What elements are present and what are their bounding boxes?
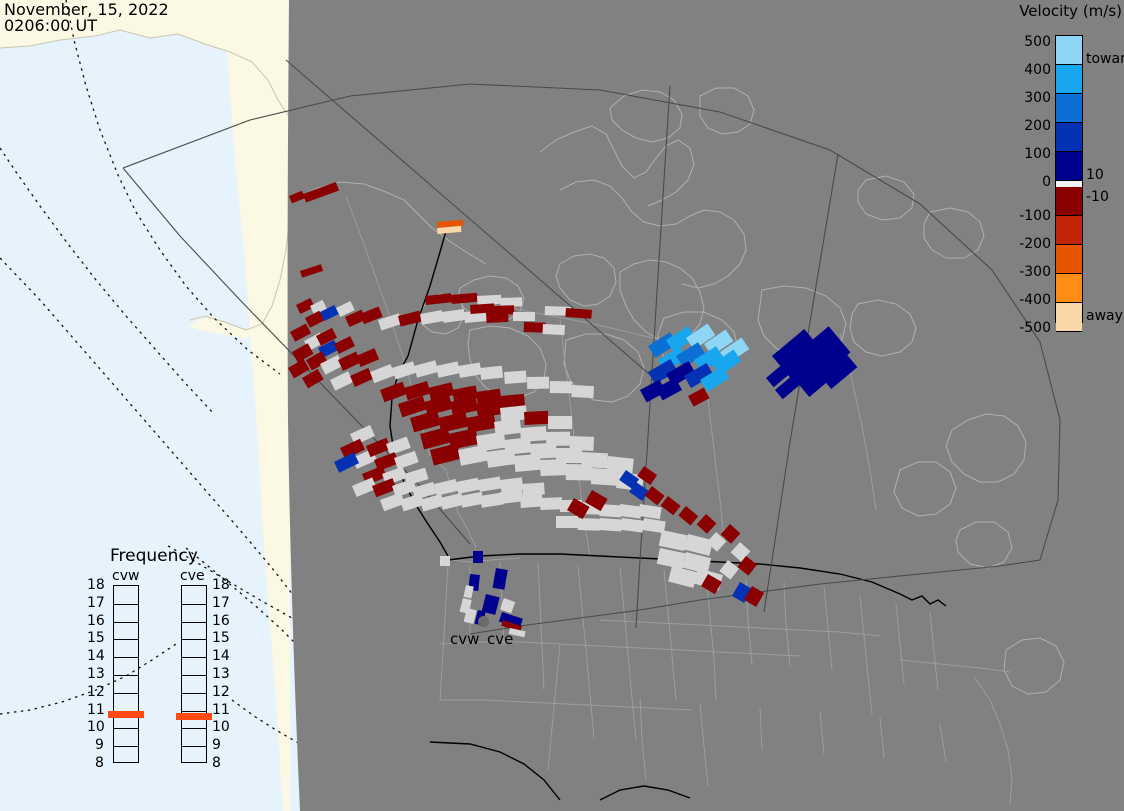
velocity-colorbar	[1055, 35, 1083, 323]
velocity-cell	[527, 377, 549, 389]
frequency-scale-label: 12	[212, 685, 230, 699]
frequency-tick	[182, 622, 206, 623]
frequency-column-header-cvw: cvw	[112, 568, 139, 584]
colorbar-tick-labels: 5004003002001000-100-200-300-400-500	[1005, 28, 1051, 330]
frequency-scale-label: 17	[212, 596, 230, 610]
velocity-cell	[356, 348, 379, 367]
velocity-cell	[566, 464, 592, 480]
frequency-tick	[182, 675, 206, 676]
frequency-scale-label: 10	[212, 720, 230, 734]
velocity-cell	[392, 361, 417, 379]
colorbar-segment	[1056, 65, 1082, 94]
velocity-cell	[289, 191, 305, 204]
frequency-tick	[182, 657, 206, 658]
frequency-tick	[114, 728, 138, 729]
frequency-column-cve	[181, 585, 207, 763]
velocity-cell	[599, 518, 622, 532]
colorbar-tick-label: 200	[1024, 119, 1051, 133]
colorbar-tick-label: -100	[1019, 209, 1051, 223]
velocity-cell	[334, 336, 355, 354]
colorbar-side-labels: toward 10 -10 away	[1086, 28, 1124, 330]
velocity-cell	[303, 182, 339, 202]
velocity-cell	[578, 518, 600, 531]
velocity-cell	[434, 479, 458, 496]
frequency-tick	[182, 746, 206, 747]
frequency-scale-label: 15	[87, 631, 105, 645]
velocity-cell	[556, 516, 578, 528]
colorbar-segment	[1056, 216, 1082, 245]
frequency-scale-label: 11	[212, 703, 230, 717]
velocity-cell	[493, 568, 508, 590]
velocity-cell	[394, 451, 419, 470]
velocity-cell	[425, 293, 452, 305]
velocity-cell	[478, 477, 502, 492]
frequency-scale-label: 18	[87, 578, 105, 592]
colorbar-toward-label: toward	[1086, 52, 1124, 66]
colorbar-tick-label: -400	[1019, 293, 1051, 307]
frequency-scale-label: 9	[95, 738, 104, 752]
frequency-scale-label: 17	[87, 596, 105, 610]
velocity-cell	[302, 369, 324, 388]
frequency-scale-label: 8	[95, 756, 104, 770]
velocity-cell	[542, 324, 564, 335]
velocity-cell	[442, 309, 465, 323]
colorbar-tick-label: 400	[1024, 63, 1051, 77]
frequency-scale-label: 18	[212, 578, 230, 592]
colorbar-segment	[1056, 94, 1082, 123]
velocity-cell	[334, 452, 359, 472]
frequency-scale-label: 16	[212, 614, 230, 628]
velocity-cell	[492, 305, 514, 315]
colorbar-segment	[1056, 123, 1082, 152]
frequency-legend: Frequency cvw cve 18171615141312111098 1…	[84, 546, 234, 776]
colorbar-tick-label: 300	[1024, 91, 1051, 105]
velocity-cell	[458, 445, 489, 466]
velocity-cell	[464, 585, 474, 598]
colorbar-title: Velocity (m/s)	[1019, 2, 1122, 20]
velocity-cell	[300, 264, 323, 277]
colorbar-neg-threshold-label: -10	[1086, 190, 1109, 204]
colorbar-segment	[1056, 152, 1082, 181]
velocity-cell	[330, 371, 353, 391]
velocity-cell	[420, 310, 444, 325]
frequency-scale-label: 9	[212, 738, 221, 752]
frequency-scale-label: 15	[212, 631, 230, 645]
colorbar-segment	[1056, 36, 1082, 65]
frequency-tick	[182, 693, 206, 694]
frequency-marker	[108, 711, 144, 718]
frequency-tick	[182, 728, 206, 729]
frequency-tick	[114, 675, 138, 676]
timestamp-time: 0206:00 UT	[4, 16, 97, 35]
velocity-cell	[350, 368, 373, 387]
radar-map-canvas: cvw cve November, 15, 20220206:00 UT Vel…	[0, 0, 1124, 811]
velocity-cell	[404, 468, 429, 486]
radar-site-label-cve: cve	[487, 630, 513, 648]
velocity-cell	[504, 370, 527, 384]
frequency-scale-label: 13	[212, 667, 230, 681]
colorbar-tick-label: 0	[1042, 175, 1051, 189]
velocity-cell	[398, 311, 422, 327]
velocity-cell	[661, 496, 681, 515]
velocity-cell	[451, 293, 478, 304]
velocity-cell	[458, 363, 482, 378]
timestamp: November, 15, 20220206:00 UT	[4, 2, 169, 34]
frequency-tick	[114, 622, 138, 623]
velocity-cell	[480, 366, 503, 380]
colorbar-tick-label: -500	[1019, 321, 1051, 335]
velocity-cell	[513, 312, 535, 321]
colorbar-segment	[1056, 187, 1082, 216]
frequency-scale-label: 8	[212, 756, 221, 770]
colorbar-tick-label: -300	[1019, 265, 1051, 279]
colorbar-segment	[1056, 245, 1082, 274]
frequency-tick	[182, 639, 206, 640]
velocity-cell	[473, 551, 483, 563]
colorbar-tick-label: 500	[1024, 35, 1051, 49]
radar-site-label-cvw: cvw	[450, 630, 479, 648]
velocity-cell	[470, 303, 495, 314]
colorbar-away-label: away	[1086, 309, 1123, 323]
frequency-tick	[182, 604, 206, 605]
velocity-cell	[456, 478, 480, 494]
velocity-cell	[524, 411, 549, 425]
frequency-tick	[182, 711, 206, 712]
velocity-cell	[638, 504, 662, 519]
colorbar-tick-label: -200	[1019, 237, 1051, 251]
frequency-column-cvw	[113, 585, 139, 763]
colorbar-segment	[1056, 274, 1082, 303]
velocity-cell	[437, 226, 461, 234]
frequency-marker	[176, 713, 212, 720]
frequency-tick	[114, 604, 138, 605]
velocity-cell	[414, 360, 438, 377]
frequency-scale-label: 12	[87, 685, 105, 699]
frequency-scale-label: 13	[87, 667, 105, 681]
velocity-cell	[440, 556, 450, 566]
velocity-cell	[678, 506, 698, 525]
velocity-cell	[514, 454, 541, 472]
frequency-scale-label: 10	[87, 720, 105, 734]
velocity-cell	[436, 361, 460, 377]
velocity-cell	[486, 448, 516, 468]
velocity-cell	[697, 514, 717, 534]
colorbar-tick-label: 100	[1024, 147, 1051, 161]
velocity-cell	[540, 459, 567, 476]
frequency-tick	[114, 746, 138, 747]
colorbar-segment	[1056, 303, 1082, 332]
velocity-cell	[548, 416, 572, 429]
velocity-cell	[621, 518, 644, 533]
velocity-cell	[550, 381, 572, 393]
velocity-cell	[565, 308, 592, 319]
frequency-tick	[114, 639, 138, 640]
velocity-cell	[571, 385, 594, 398]
velocity-cell	[591, 468, 618, 486]
radar-site-dot	[478, 616, 489, 627]
frequency-column-header-cve: cve	[180, 568, 205, 584]
velocity-cell	[380, 382, 407, 402]
frequency-legend-title: Frequency	[110, 546, 198, 566]
frequency-scale-label: 14	[87, 649, 105, 663]
frequency-scale-label: 16	[87, 614, 105, 628]
colorbar-pos-threshold-label: 10	[1086, 168, 1104, 182]
frequency-scale-label: 11	[87, 703, 105, 717]
frequency-tick	[114, 657, 138, 658]
frequency-scale-label: 14	[212, 649, 230, 663]
frequency-tick	[114, 693, 138, 694]
